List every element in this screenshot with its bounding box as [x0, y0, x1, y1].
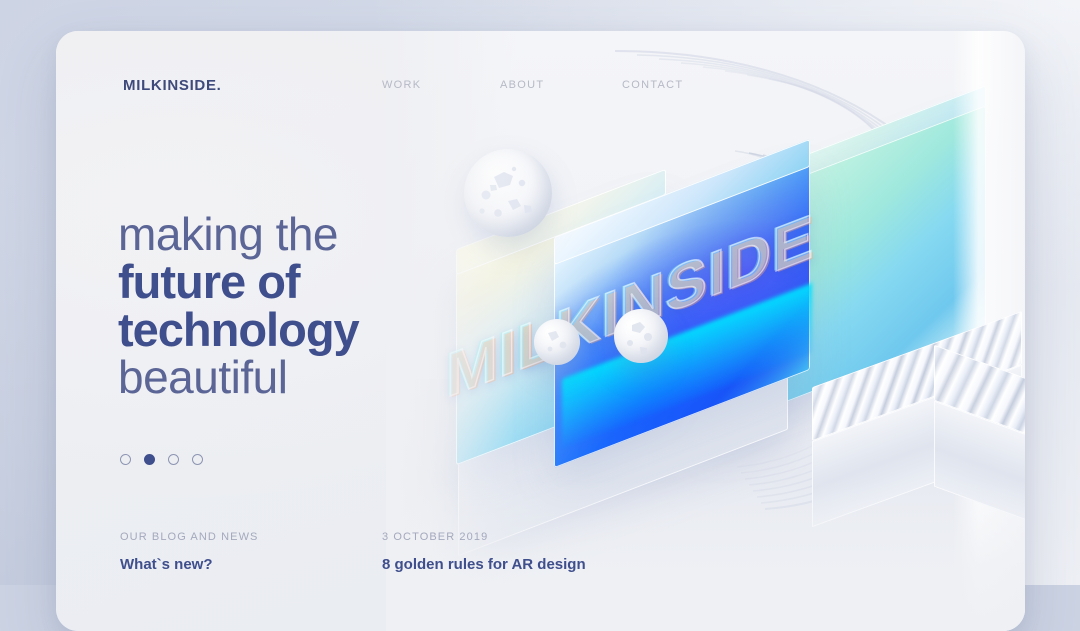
carousel-dot-3[interactable]	[168, 454, 179, 465]
site-logo[interactable]: MILKINSIDE.	[123, 77, 222, 94]
carousel-dot-2[interactable]	[144, 454, 155, 465]
carousel-dot-4[interactable]	[192, 454, 203, 465]
hero-card: MILKINSIDE	[56, 31, 1025, 631]
blog-item-1: OUR BLOG AND NEWS What`s new?	[120, 531, 259, 573]
carousel-dot-1[interactable]	[120, 454, 131, 465]
blog-item-2: 3 OCTOBER 2019 8 golden rules for AR des…	[382, 531, 586, 573]
hero-headline: making the future of technology beautifu…	[118, 211, 448, 401]
headline-line-1: making the	[118, 211, 448, 258]
carousel-pagination	[120, 454, 203, 465]
nav-item-work[interactable]: WORK	[382, 79, 421, 91]
blog-title-2[interactable]: 8 golden rules for AR design	[382, 556, 586, 573]
headline-line-4: beautiful	[118, 354, 448, 401]
nav-item-about[interactable]: ABOUT	[500, 79, 544, 91]
headline-line-3: technology	[118, 306, 448, 354]
headline-line-2: future of	[118, 258, 448, 306]
site-header: MILKINSIDE. WORK ABOUT CONTACT	[56, 31, 1025, 141]
blog-title-1[interactable]: What`s new?	[120, 556, 259, 573]
nav-item-contact[interactable]: CONTACT	[622, 79, 683, 91]
ui-layer: MILKINSIDE. WORK ABOUT CONTACT making th…	[56, 31, 1025, 631]
blog-kicker-1: OUR BLOG AND NEWS	[120, 531, 259, 543]
blog-strip: OUR BLOG AND NEWS What`s new? 3 OCTOBER …	[56, 531, 1025, 616]
blog-kicker-2: 3 OCTOBER 2019	[382, 531, 586, 543]
